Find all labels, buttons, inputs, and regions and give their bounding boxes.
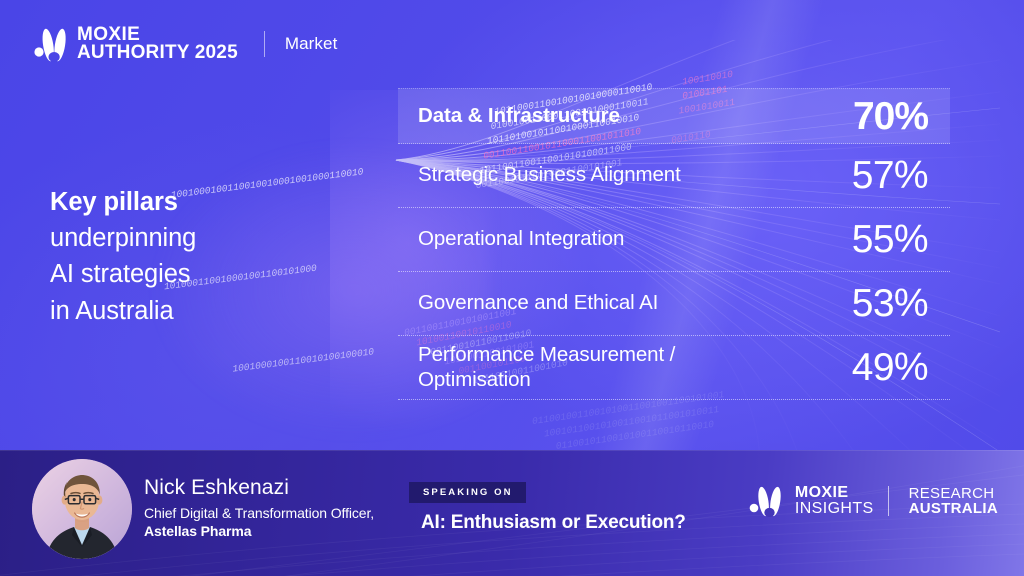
footer-logo-word-1: MOXIE (795, 485, 874, 501)
moxie-insights-research-australia-logo: MOXIE INSIGHTS RESEARCH AUSTRALIA (749, 485, 998, 517)
headline-strong: Key pillars (50, 188, 178, 216)
headline-line-2: underpinning (50, 224, 196, 252)
svg-text:0110010110010100110010110010: 0110010110010100110010110010 (555, 419, 715, 450)
moxie-m-logo-icon (749, 485, 785, 517)
svg-text:1001000100110010100100010: 1001000100110010100100010 (232, 346, 375, 374)
table-row[interactable]: Data & Infrastructure 70% (398, 88, 950, 144)
header-section-label: Market (285, 34, 338, 54)
table-row-value: 57% (852, 156, 928, 195)
svg-text:100110010: 100110010 (681, 69, 734, 88)
headline-line-3: AI strategies (50, 260, 190, 288)
page-title: Key pillars underpinning AI strategies i… (50, 184, 350, 329)
slide-root: 1011000110010010010000110010 100110010 0… (0, 0, 1024, 576)
footer-logo-word-2: INSIGHTS (795, 501, 874, 517)
status-badge: SPEAKING ON (409, 482, 526, 503)
table-row[interactable]: Governance and Ethical AI 53% (398, 272, 950, 336)
table-row[interactable]: Operational Integration 55% (398, 208, 950, 272)
table-row-value: 55% (852, 220, 928, 259)
pillars-table: Data & Infrastructure 70% Strategic Busi… (398, 88, 950, 400)
talk-title: AI: Enthusiasm or Execution? (421, 512, 686, 534)
moxie-authority-logo: MOXIE AUTHORITY 2025 (34, 26, 238, 62)
logo-line-2: AUTHORITY 2025 (77, 44, 238, 62)
speaker-name: Nick Eshkenazi (144, 476, 374, 501)
table-row-value: 53% (852, 284, 928, 323)
speaker-organisation: Astellas Pharma (144, 522, 374, 540)
table-row-label: Strategic Business Alignment (418, 163, 681, 188)
table-row-label: Governance and Ethical AI (418, 291, 658, 316)
table-row-label: Operational Integration (418, 227, 624, 252)
header-divider (264, 31, 265, 57)
table-row-label: Performance Measurement / Optimisation (418, 343, 778, 392)
table-row-label: Data & Infrastructure (418, 104, 620, 129)
speaker-portrait-image (32, 459, 132, 559)
headline-line-4: in Australia (50, 297, 174, 325)
footer-logo-right-2: AUSTRALIA (909, 501, 998, 516)
footer-logo-divider (888, 486, 889, 516)
table-row-value: 49% (852, 348, 928, 387)
moxie-m-logo-icon (34, 26, 68, 62)
footer-logo-right-1: RESEARCH (909, 486, 998, 501)
slide-header: MOXIE AUTHORITY 2025 Market (34, 26, 337, 62)
svg-text:100101100101001100101100101001: 1001011001010011001011001010011 (543, 404, 720, 439)
avatar (32, 459, 132, 559)
table-row[interactable]: Strategic Business Alignment 57% (398, 144, 950, 208)
speaker-info: Nick Eshkenazi Chief Digital & Transform… (144, 476, 374, 540)
table-row[interactable]: Performance Measurement / Optimisation 4… (398, 336, 950, 400)
table-row-value: 70% (853, 97, 928, 136)
speaker-role: Chief Digital & Transformation Officer, (144, 504, 374, 522)
